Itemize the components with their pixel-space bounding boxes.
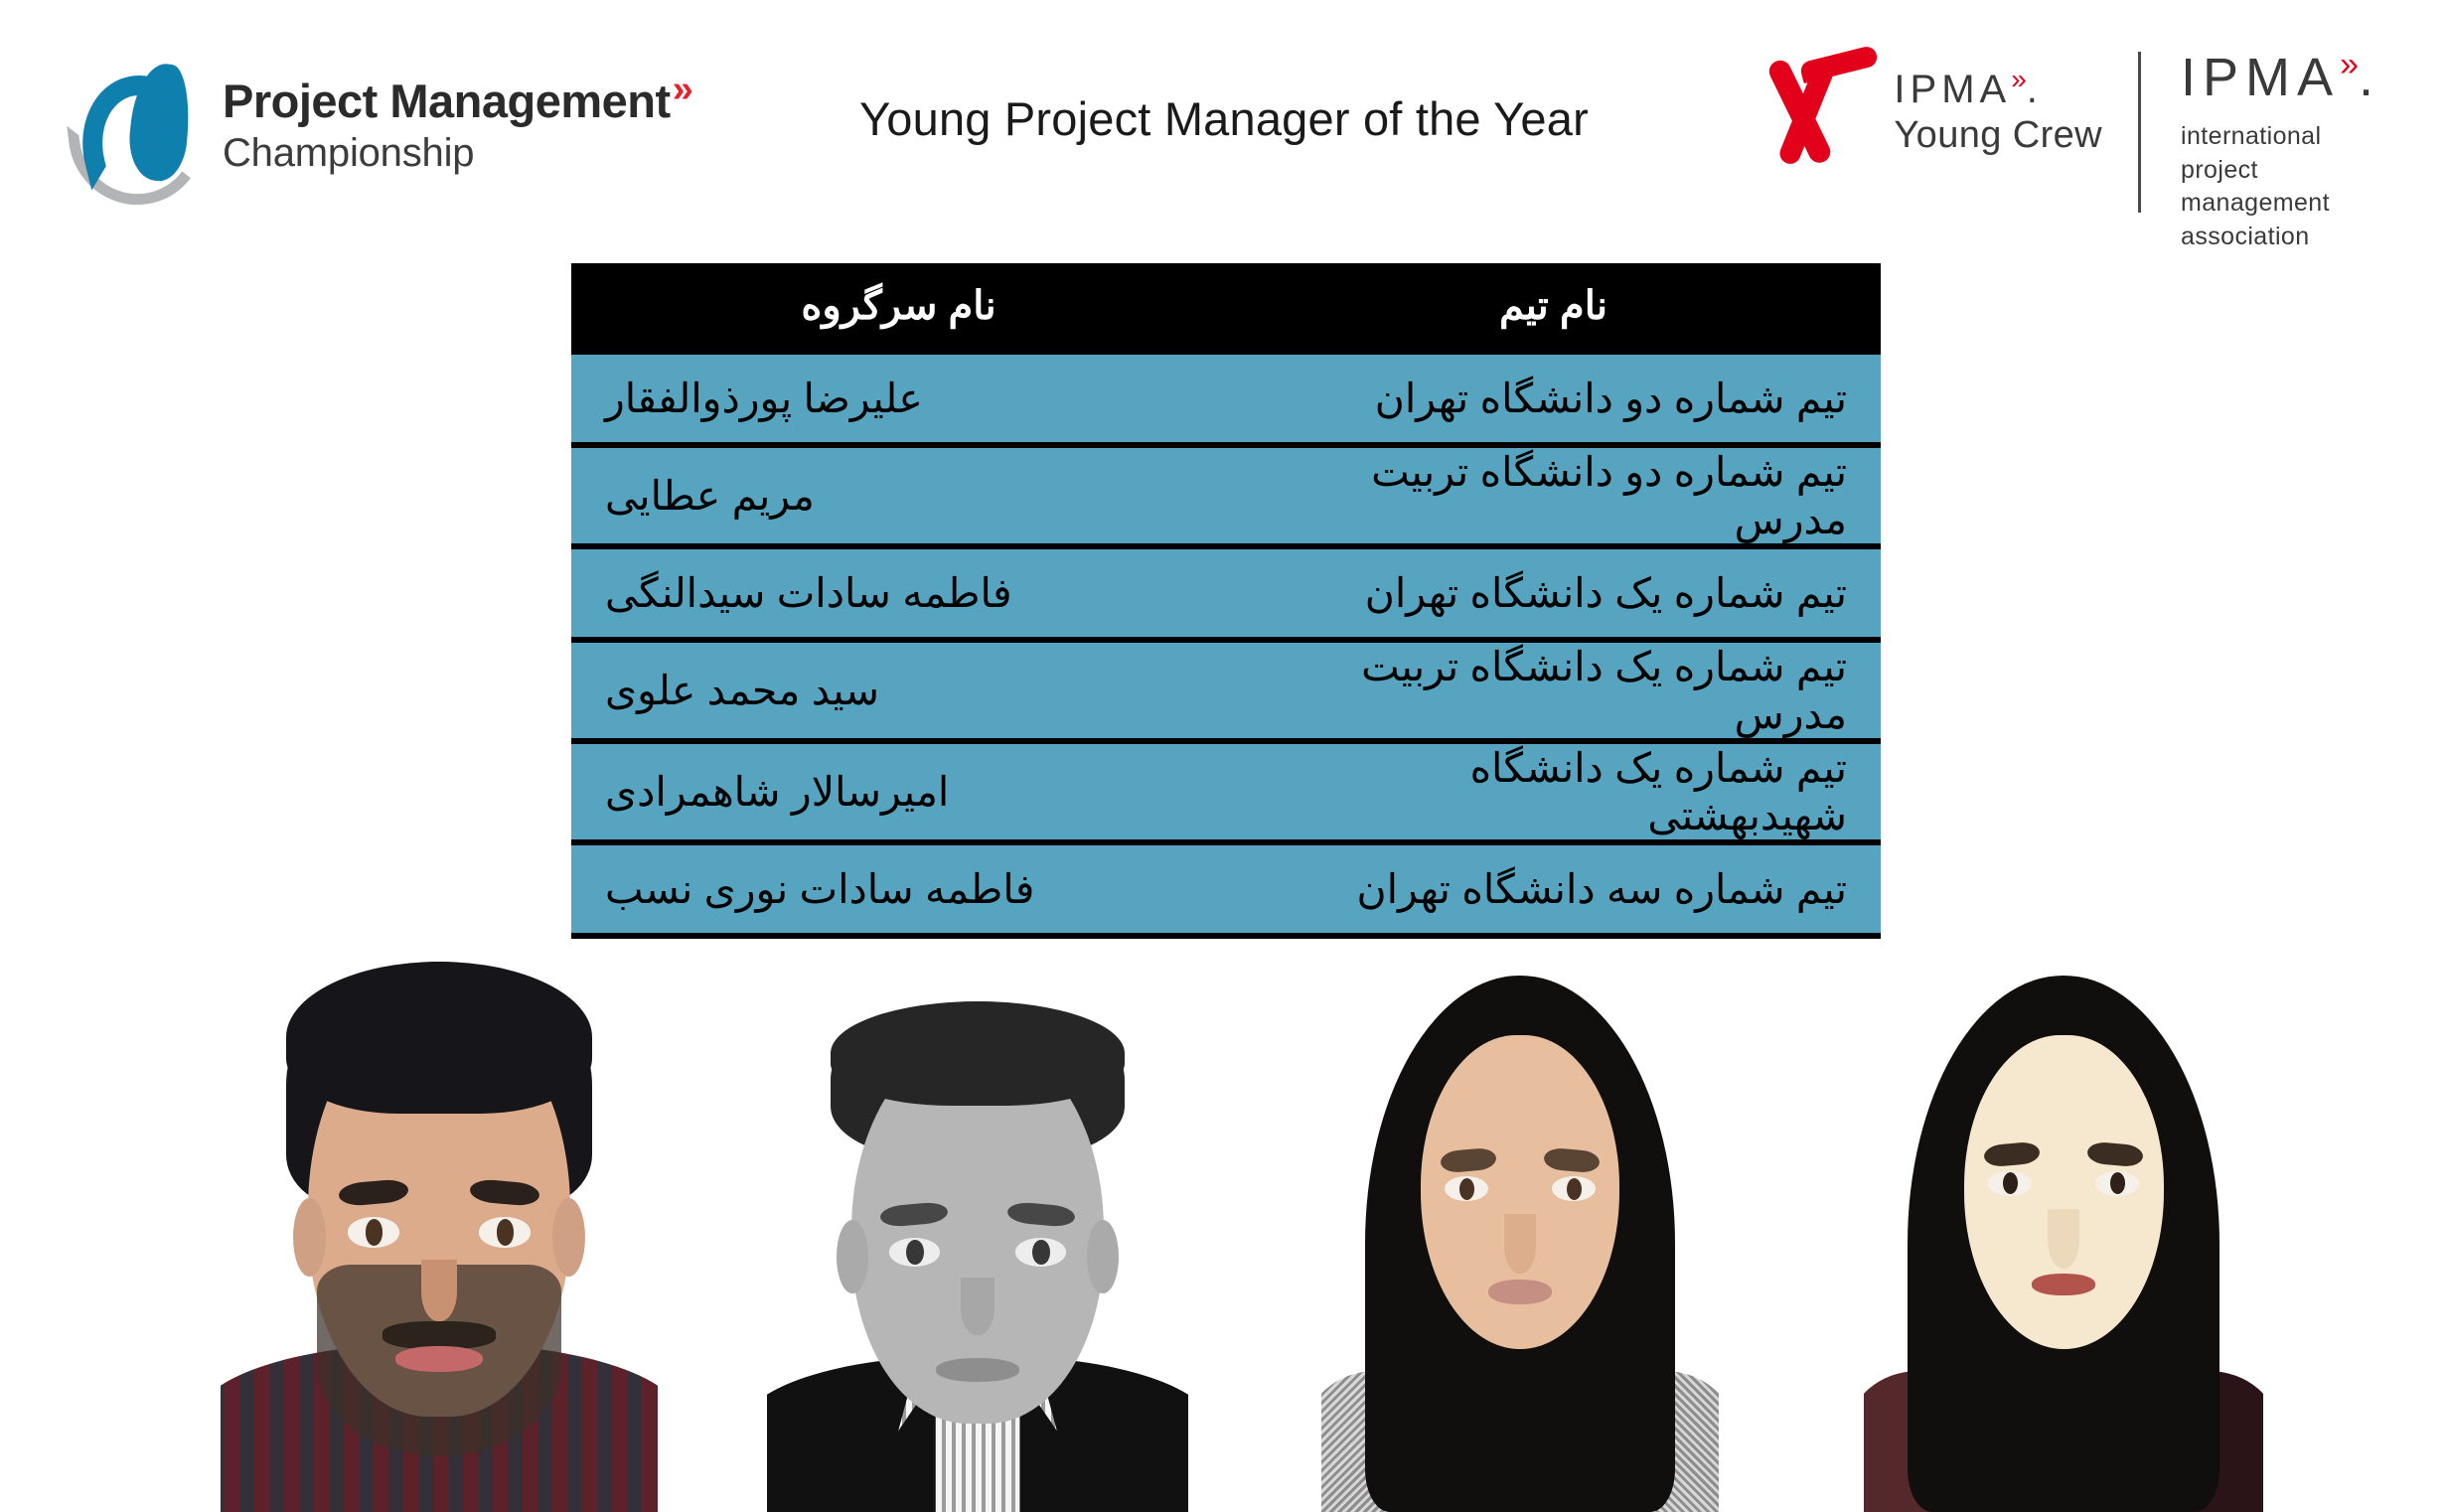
portrait-1-ear-left xyxy=(293,1198,326,1277)
portrait-3 xyxy=(1321,971,1719,1512)
ipma-dot-icon: . xyxy=(2359,48,2380,107)
slide-header: Project Management» Championship Young P… xyxy=(0,0,2448,238)
ipma-tagline-line-4: association xyxy=(2181,221,2380,254)
young-crew-ipma-letters: IPMA xyxy=(1894,68,2011,111)
table-body: تیم شماره دو دانشگاه تهرانعلیرضا پورذوال… xyxy=(571,352,1881,936)
portrait-2-nose xyxy=(961,1278,994,1335)
pmc-line1-text: Project Management xyxy=(223,75,671,127)
young-crew-dot-icon: . xyxy=(2027,68,2038,111)
portrait-2-ear-right xyxy=(1087,1220,1119,1293)
ipma-tagline-line-2: project xyxy=(2181,154,2380,188)
cell-team-name: تیم شماره یک دانشگاه تهران xyxy=(1226,546,1881,640)
cell-leader-name: مریم عطایی xyxy=(571,445,1226,546)
portrait-2-mouth xyxy=(936,1358,1020,1382)
ipma-young-crew-logo: IPMA». Young Crew xyxy=(1760,48,2138,173)
ipma-chevron-icon: » xyxy=(2340,46,2359,83)
table-row: تیم شماره دو دانشگاه تهرانعلیرضا پورذوال… xyxy=(571,352,1881,445)
portrait-2-hairline xyxy=(831,1001,1126,1106)
pmc-line1: Project Management» xyxy=(223,71,692,124)
ipma-wordmark: IPMA». xyxy=(2181,48,2380,104)
portrait-4 xyxy=(1864,971,2263,1512)
portrait-3-mouth xyxy=(1488,1280,1552,1304)
portrait-1-mouth xyxy=(395,1346,483,1372)
portrait-2-eye-right xyxy=(1015,1238,1066,1266)
cell-leader-name: فاطمه سادات سیدالنگی xyxy=(571,546,1226,640)
young-crew-subtitle: Young Crew xyxy=(1894,116,2102,156)
portrait-1-moustache xyxy=(382,1321,496,1349)
teams-table: نام تیم نام سرگروه تیم شماره دو دانشگاه … xyxy=(571,263,1881,939)
young-crew-x-mark-icon xyxy=(1760,48,1878,173)
portrait-4-eye-right xyxy=(2095,1171,2139,1196)
project-management-championship-logo: Project Management» Championship xyxy=(72,58,692,185)
portrait-2 xyxy=(767,990,1188,1512)
ipma-tagline-line-1: international xyxy=(2181,120,2380,154)
cell-leader-name: فاطمه سادات نوری نسب xyxy=(571,842,1226,936)
portrait-4-mouth xyxy=(2032,1274,2095,1295)
portrait-3-eye-right xyxy=(1552,1176,1596,1201)
ipma-tagline: international project management associa… xyxy=(2181,120,2380,253)
table-row: تیم شماره یک دانشگاه تهرانفاطمه سادات سی… xyxy=(571,546,1881,640)
portrait-2-ear-left xyxy=(837,1220,868,1293)
portrait-1-eye-left xyxy=(348,1217,400,1248)
table-row: تیم شماره سه دانشگاه تهرانفاطمه سادات نو… xyxy=(571,842,1881,936)
table-header: نام تیم نام سرگروه xyxy=(571,263,1881,352)
young-crew-ipma-text: IPMA». xyxy=(1894,65,2102,110)
cell-team-name: تیم شماره دو دانشگاه تربیت مدرس xyxy=(1226,445,1881,546)
column-header-leader-name: نام سرگروه xyxy=(571,263,1226,352)
portrait-3-nose xyxy=(1504,1214,1536,1274)
cell-team-name: تیم شماره یک دانشگاه تربیت مدرس xyxy=(1226,640,1881,741)
cell-team-name: تیم شماره سه دانشگاه تهران xyxy=(1226,842,1881,936)
cell-team-name: تیم شماره دو دانشگاه تهران xyxy=(1226,352,1881,445)
x-stroke-top-icon xyxy=(1799,45,1880,83)
cell-leader-name: امیرسالار شاهمرادی xyxy=(571,741,1226,842)
table-header-row: نام تیم نام سرگروه xyxy=(571,263,1881,352)
portrait-4-nose xyxy=(2048,1209,2079,1269)
portrait-1 xyxy=(221,951,658,1512)
portrait-1-hairline xyxy=(286,962,592,1114)
ipma-logo-group: IPMA». Young Crew IPMA». international p… xyxy=(1760,48,2380,253)
cell-leader-name: علیرضا پورذوالفقار xyxy=(571,352,1226,445)
cell-leader-name: سید محمد علوی xyxy=(571,640,1226,741)
portrait-1-nose xyxy=(421,1260,456,1321)
portrait-2-eye-left xyxy=(889,1238,940,1266)
ipma-international-logo: IPMA». international project management … xyxy=(2141,48,2380,253)
portrait-1-eye-right xyxy=(479,1217,532,1248)
portrait-3-eye-left xyxy=(1445,1176,1488,1201)
column-header-team-name: نام تیم xyxy=(1226,263,1881,352)
young-crew-chevron-icon: » xyxy=(2011,64,2027,94)
ipma-tagline-line-3: management xyxy=(2181,187,2380,221)
portrait-4-eye-left xyxy=(1988,1171,2032,1196)
pmc-bird-mark-icon xyxy=(72,58,201,185)
pmc-wordmark: Project Management» Championship xyxy=(223,71,692,173)
ipma-letters: IPMA xyxy=(2181,48,2340,107)
portrait-gallery xyxy=(0,949,2448,1512)
table-row: تیم شماره دو دانشگاه تربیت مدرسمریم عطای… xyxy=(571,445,1881,546)
pmc-chevron-icon: » xyxy=(673,69,693,110)
table-row: تیم شماره یک دانشگاه تربیت مدرسسید محمد … xyxy=(571,640,1881,741)
table-row: تیم شماره یک دانشگاه شهیدبهشتیامیرسالار … xyxy=(571,741,1881,842)
portrait-1-ear-right xyxy=(552,1198,585,1277)
pmc-line2-text: Championship xyxy=(223,133,692,173)
young-crew-wordmark: IPMA». Young Crew xyxy=(1894,65,2102,156)
cell-team-name: تیم شماره یک دانشگاه شهیدبهشتی xyxy=(1226,741,1881,842)
